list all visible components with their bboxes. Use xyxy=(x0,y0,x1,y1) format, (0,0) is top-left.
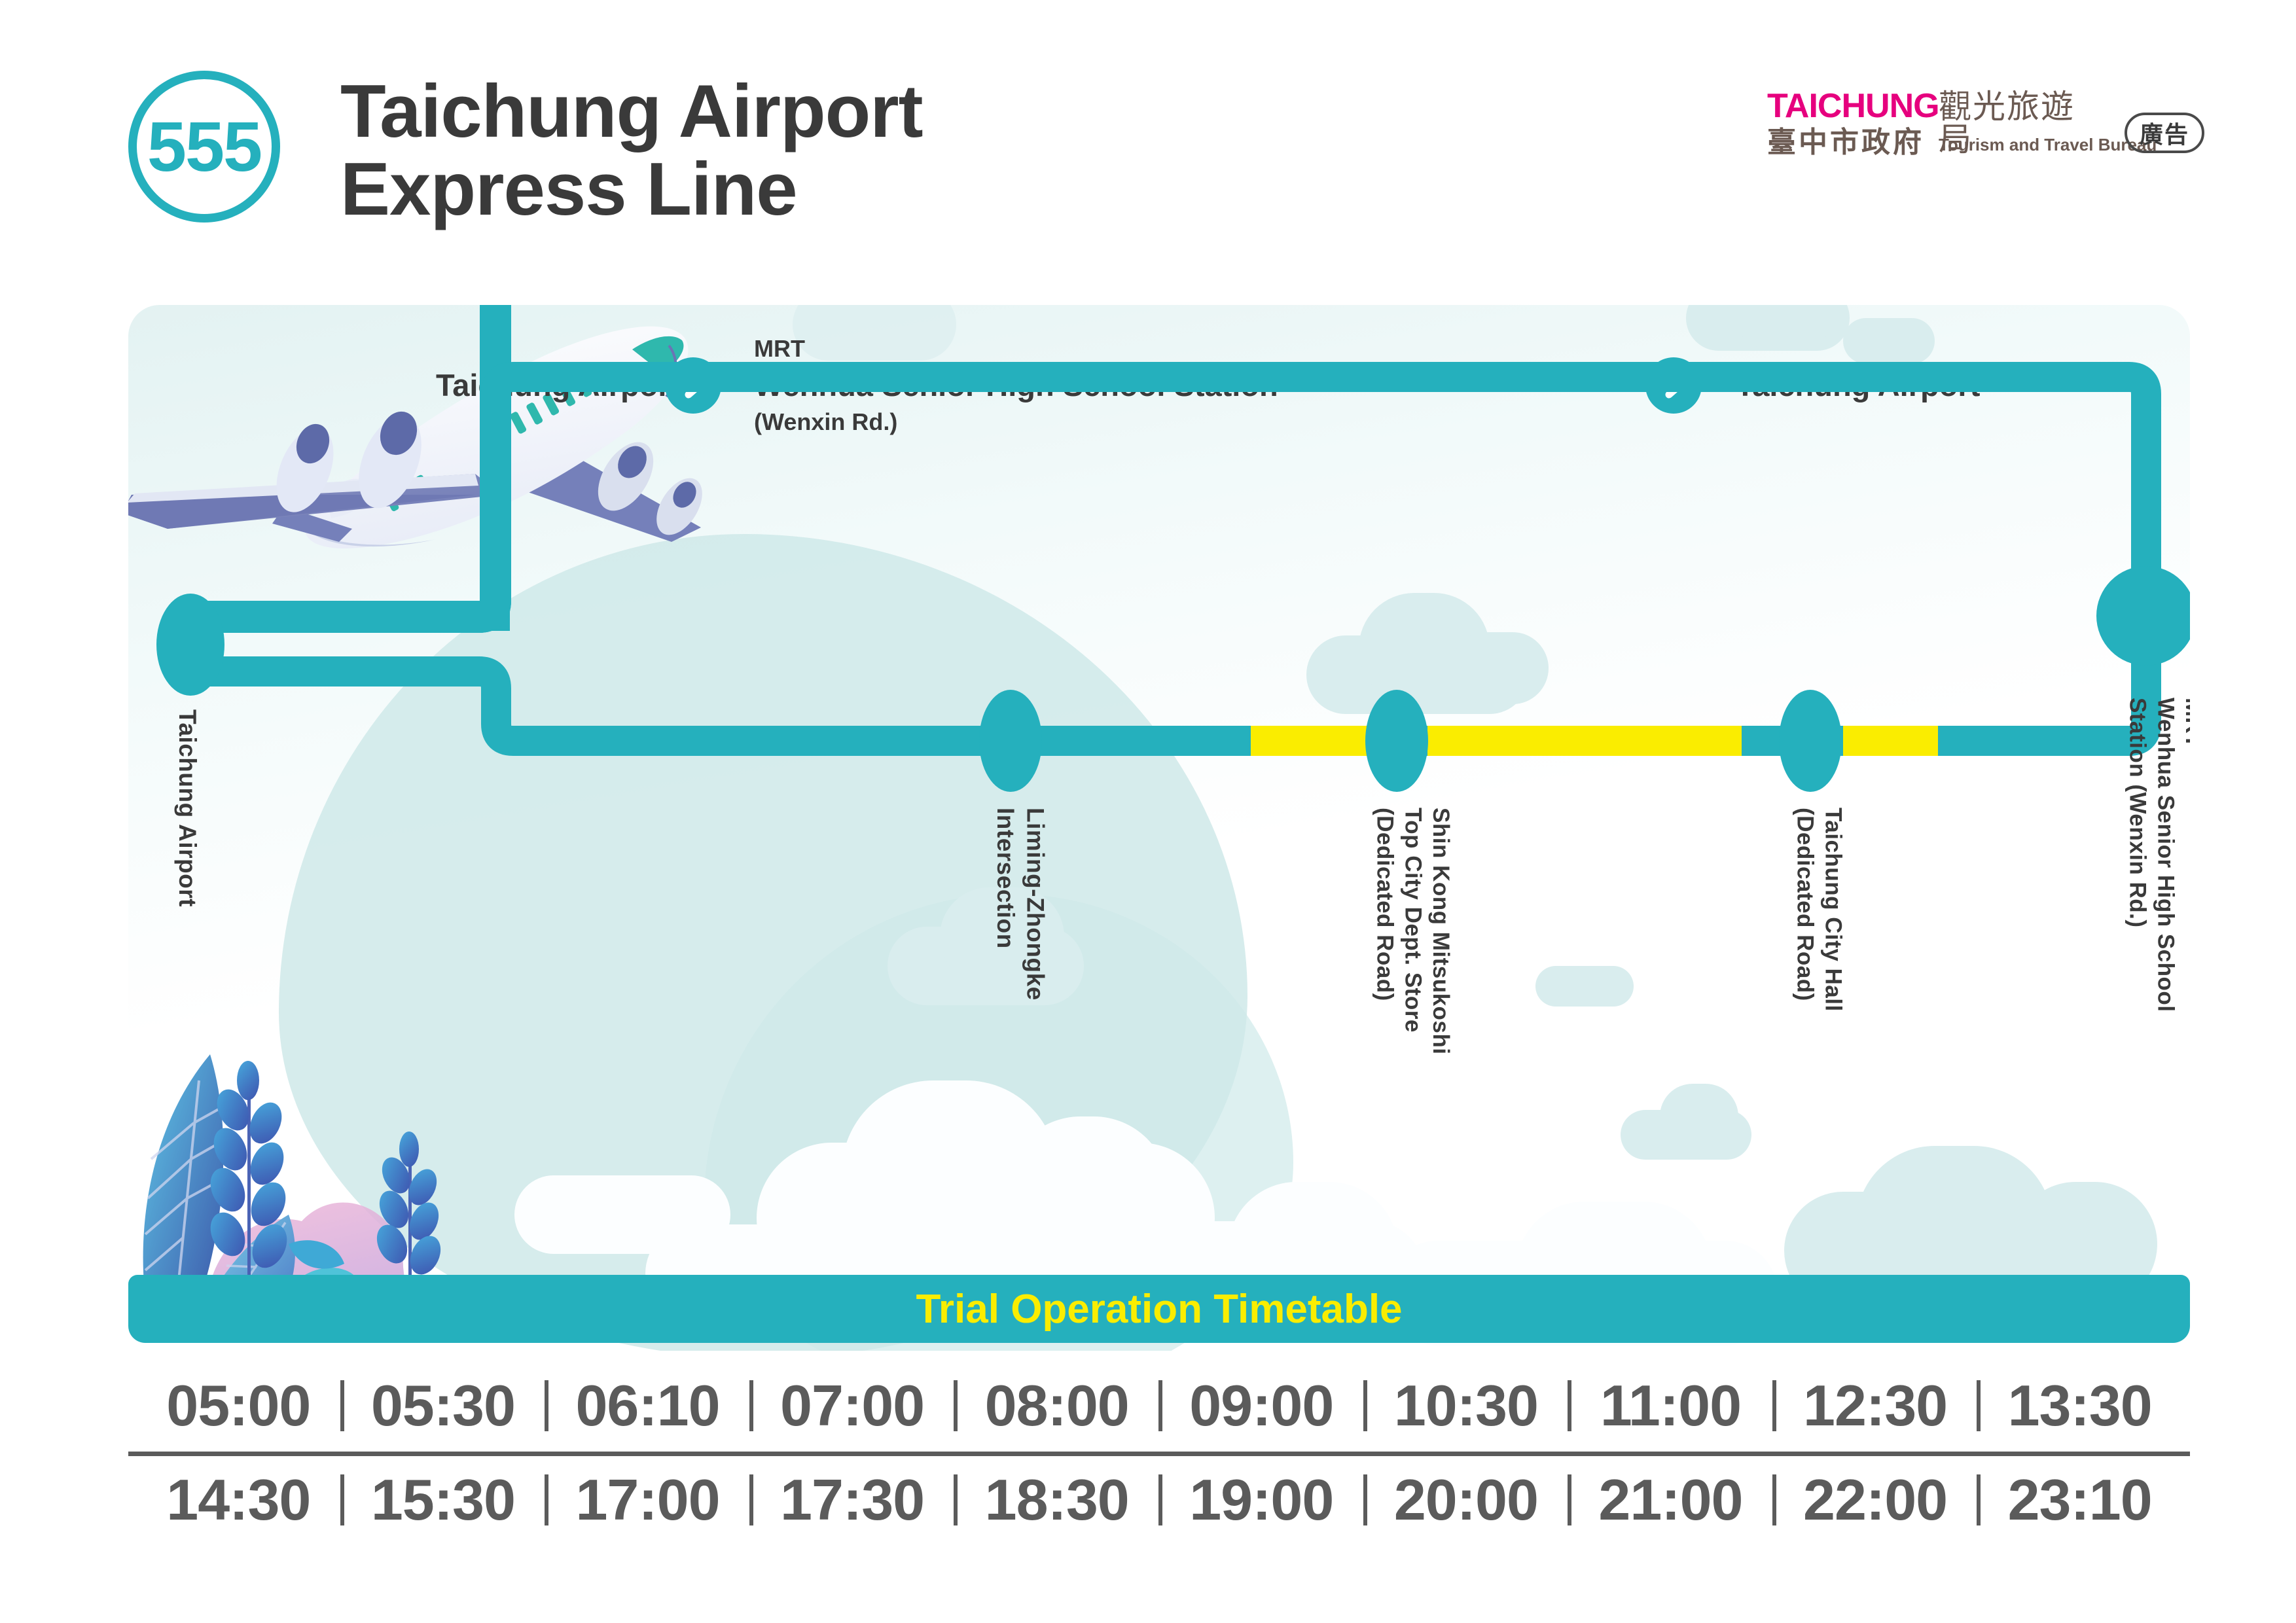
departure-time: 19:00 xyxy=(1189,1467,1333,1533)
advertisement-badge-label: 廣告 xyxy=(2140,116,2189,150)
departure-time: 06:10 xyxy=(575,1372,719,1439)
departure-time: 07:00 xyxy=(780,1372,924,1439)
timetable-cell: 06:10 xyxy=(545,1372,750,1439)
timetable-cell: 17:00 xyxy=(545,1467,750,1533)
timetable-cell: 13:30 xyxy=(1977,1372,2182,1439)
departure-time: 12:30 xyxy=(1803,1372,1947,1439)
departure-time: 05:00 xyxy=(166,1372,310,1439)
route-seg-outbound-a xyxy=(190,305,495,616)
timetable-cell: 18:30 xyxy=(954,1467,1159,1533)
timetable-cell: 23:10 xyxy=(1977,1467,2182,1533)
timetable-banner-title: Trial Operation Timetable xyxy=(916,1286,1402,1332)
departure-time: 09:00 xyxy=(1189,1372,1333,1439)
stop-label-taichung-airport: Taichung Airport xyxy=(173,709,202,907)
page-title-line2: Express Line xyxy=(340,151,923,229)
stop-marker-liming-zhongke xyxy=(979,690,1042,792)
timetable-banner: Trial Operation Timetable xyxy=(128,1275,2190,1343)
stop-label-mrt-wenhua: MRT Wenhua Senior High School Station (W… xyxy=(2123,698,2190,1012)
logo-city-en: TAICHUNG xyxy=(1767,89,1939,123)
advertisement-badge: 廣告 xyxy=(2125,113,2204,153)
departure-time: 17:30 xyxy=(780,1467,924,1533)
route-outbound-path xyxy=(190,377,2146,618)
departure-time: 10:30 xyxy=(1394,1372,1538,1439)
timetable-cell: 05:30 xyxy=(341,1372,546,1439)
stop-label-shin-kong-mitsukoshi: Shin Kong Mitsukoshi Top City Dept. Stor… xyxy=(1371,808,1454,1054)
logo-city-gov-zh: 臺中市政府 xyxy=(1767,128,1924,157)
timetable-cell: 09:00 xyxy=(1159,1372,1364,1439)
page-title-line1: Taichung Airport xyxy=(340,73,923,151)
route-number-label: 555 xyxy=(147,111,261,182)
departure-time: 13:30 xyxy=(2008,1372,2152,1439)
route-line-outbound xyxy=(190,305,495,616)
departure-time: 14:30 xyxy=(166,1467,310,1533)
timetable-cell: 20:00 xyxy=(1364,1467,1569,1533)
departure-time: 11:00 xyxy=(1600,1372,1741,1439)
stop-label-taichung-city-hall: Taichung City Hall (Dedicated Road) xyxy=(1791,808,1846,1012)
timetable-cell: 19:00 xyxy=(1159,1467,1364,1533)
timetable: 05:0005:3006:1007:0008:0009:0010:3011:00… xyxy=(128,1360,2190,1576)
timetable-cell: 11:00 xyxy=(1568,1372,1773,1439)
stop-marker-mrt-wenhua xyxy=(2096,566,2190,666)
timetable-row: 05:0005:3006:1007:0008:0009:0010:3011:00… xyxy=(128,1360,2190,1452)
departure-time: 20:00 xyxy=(1394,1467,1538,1533)
departure-time: 21:00 xyxy=(1598,1467,1742,1533)
route-map-panel: Taichung Airport MRT Wenhua Senior High … xyxy=(128,305,2190,1351)
route-number-badge: 555 xyxy=(128,71,280,223)
timetable-cell: 07:00 xyxy=(750,1372,955,1439)
stop-marker-taichung-city-hall xyxy=(1779,690,1842,792)
dedicated-road-segment xyxy=(1843,726,1938,756)
taichung-tourism-bureau-logo: TAICHUNG 臺中市政府 觀光旅遊局 Tourism and Travel … xyxy=(1767,89,2081,161)
departure-time: 05:30 xyxy=(371,1372,515,1439)
stop-marker-taichung-airport xyxy=(156,594,224,696)
timetable-cell: 15:30 xyxy=(341,1467,546,1533)
dedicated-road-segment xyxy=(1251,726,1375,756)
timetable-cell: 08:00 xyxy=(954,1372,1159,1439)
route-diagram xyxy=(128,305,2190,1351)
dedicated-road-segment xyxy=(1427,726,1742,756)
departure-time: 18:30 xyxy=(985,1467,1129,1533)
timetable-cell: 05:00 xyxy=(136,1372,341,1439)
page-title: Taichung Airport Express Line xyxy=(340,73,923,228)
timetable-row: 14:3015:3017:0017:3018:3019:0020:0021:00… xyxy=(128,1452,2190,1543)
timetable-cell: 10:30 xyxy=(1364,1372,1569,1439)
timetable-cell: 14:30 xyxy=(136,1467,341,1533)
departure-time: 22:00 xyxy=(1803,1467,1947,1533)
departure-time: 15:30 xyxy=(371,1467,515,1533)
header: 555 Taichung Airport Express Line TAICHU… xyxy=(0,0,2296,288)
stop-marker-shin-kong-mitsukoshi xyxy=(1365,690,1428,792)
departure-time: 08:00 xyxy=(985,1372,1129,1439)
departure-time: 23:10 xyxy=(2008,1467,2152,1533)
timetable-cell: 22:00 xyxy=(1773,1467,1978,1533)
stop-label-liming-zhongke: Liming-Zhongke Intersection xyxy=(991,808,1050,1001)
logo-bureau-en: Tourism and Travel Bureau xyxy=(1939,136,2157,153)
departure-time: 17:00 xyxy=(575,1467,719,1533)
timetable-cell: 17:30 xyxy=(750,1467,955,1533)
timetable-cell: 21:00 xyxy=(1568,1467,1773,1533)
timetable-cell: 12:30 xyxy=(1773,1372,1978,1439)
